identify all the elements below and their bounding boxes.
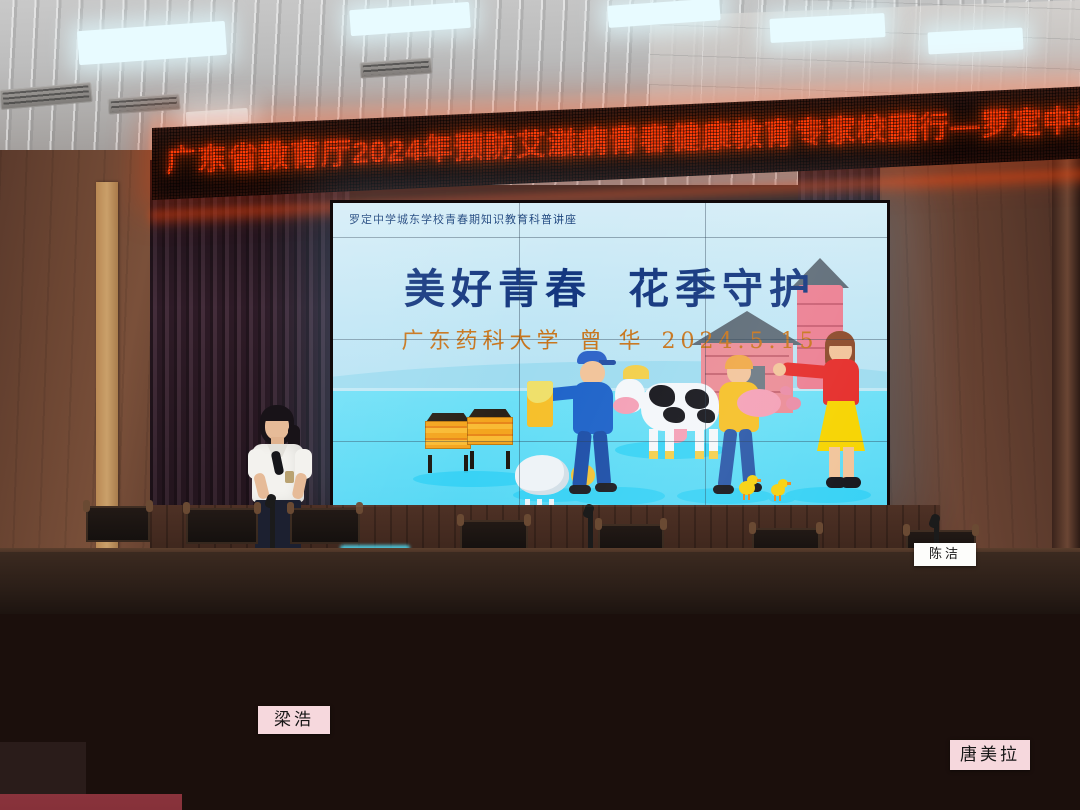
beehive-icon [467, 409, 513, 453]
pig-icon [737, 389, 795, 423]
auditorium-photo: 广东省教育厅2024年预防艾滋病青春健康教育专家校园行—罗定中学城东学校 广东省… [0, 0, 1080, 810]
presentation-slide: 罗定中学城东学校青春期知识教育科普讲座 美好青春花季守护 广东药科大学曾 华20… [333, 203, 887, 507]
presenter-badge [285, 471, 294, 483]
slide-speaker: 曾 华 [580, 329, 646, 354]
attendee-maroon-top [0, 742, 180, 810]
right-wall-edge [1052, 152, 1080, 582]
slide-header-line: 罗定中学城东学校青春期知识教育科普讲座 [349, 211, 577, 227]
chick-icon [771, 479, 791, 499]
slide-org: 广东药科大学 [402, 329, 564, 354]
farmer-blue-icon [561, 351, 631, 501]
slide-date: 2024.5.15 [662, 329, 819, 354]
desk-microphone-stand [270, 502, 275, 550]
presenter-fringe [261, 408, 293, 421]
video-wall-display[interactable]: 罗定中学城东学校青春期知识教育科普讲座 美好青春花季守护 广东药科大学曾 华20… [330, 200, 890, 510]
slide-title-part2: 花季守护 [628, 265, 816, 313]
pen-case [0, 225, 36, 241]
attendee-head [0, 742, 86, 794]
slide-title: 美好青春花季守护 [333, 255, 887, 315]
honey-jar-icon [527, 381, 553, 427]
slide-byline: 广东药科大学曾 华2024.5.15 [333, 323, 887, 355]
attendee-ponytail-center [0, 642, 150, 742]
beehive-icon [425, 413, 471, 457]
stage-chair[interactable] [290, 508, 360, 544]
nameplate-chen-jie: 陈洁 [914, 543, 976, 566]
nameplate-tang-meila: 唐美拉 [950, 740, 1030, 770]
woman-red-icon [811, 331, 881, 503]
stage-chair[interactable] [86, 506, 150, 542]
chick-icon [739, 475, 761, 497]
attendee-head [0, 642, 116, 748]
stage-chair[interactable] [186, 508, 258, 544]
slide-title-part1: 美好青春 [404, 265, 592, 313]
nameplate-liang-hao: 梁浩 [258, 706, 330, 734]
attendee-shoulders [0, 794, 182, 810]
